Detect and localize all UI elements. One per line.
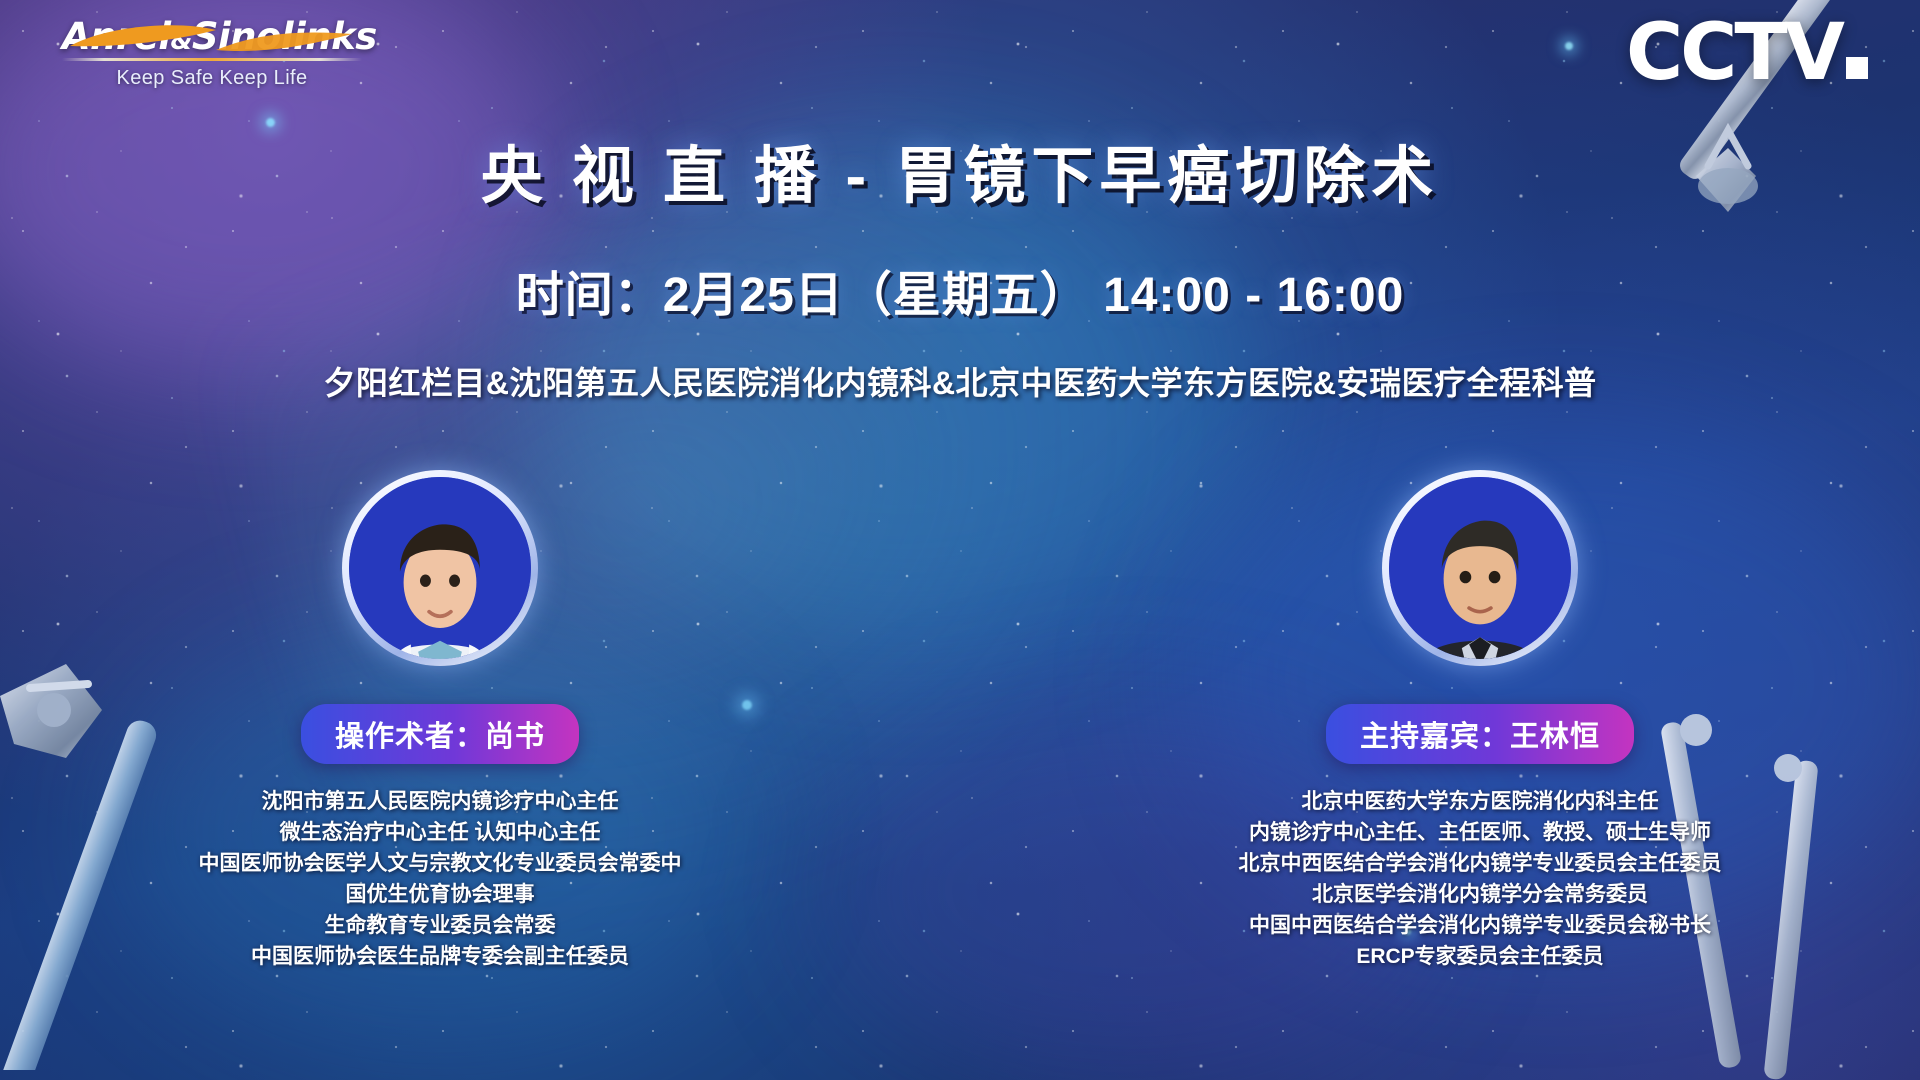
cctv-logo: CCTV [1626, 14, 1868, 92]
cctv-logo-dot [1846, 57, 1868, 79]
credential-line: 国优生优育协会理事 [180, 879, 700, 910]
credential-line: 北京中医药大学东方医院消化内科主任 [1220, 786, 1740, 817]
host-portrait-icon [1389, 477, 1571, 659]
credential-list: 沈阳市第五人民医院内镜诊疗中心主任 微生态治疗中心主任 认知中心主任 中国医师协… [180, 786, 700, 972]
partner-organizations: 夕阳红栏目&沈阳第五人民医院消化内镜科&北京中医药大学东方医院&安瑞医疗全程科普 [0, 358, 1920, 404]
host-name-badge: 主持嘉宾：王林恒 [1326, 704, 1634, 764]
cctv-logo-text: CCTV [1626, 8, 1842, 98]
event-time: 时间：2月25日（星期五） 14:00 - 16:00 [0, 255, 1920, 325]
brand-tagline: Keep Safe Keep Life [62, 67, 362, 90]
brand-logo: Anrei&Sinolinks Keep Safe Keep Life [62, 18, 362, 90]
avatar-ring [1382, 470, 1578, 666]
speaker-card-left: 操作术者：尚书 沈阳市第五人民医院内镜诊疗中心主任 微生态治疗中心主任 认知中心… [180, 470, 700, 972]
brand-wordmark: Anrei&Sinolinks [62, 18, 362, 55]
brand-divider-rule [62, 58, 362, 61]
poster-canvas: Anrei&Sinolinks Keep Safe Keep Life CCTV… [0, 0, 1920, 1080]
credential-line: 生命教育专业委员会常委 [180, 910, 700, 941]
avatar-ring [342, 470, 538, 666]
brand-ampersand: & [171, 26, 192, 55]
credential-line: 中国医师协会医生品牌专委会副主任委员 [180, 941, 700, 972]
avatar [1389, 477, 1571, 659]
speaker-card-right: 主持嘉宾：王林恒 北京中医药大学东方医院消化内科主任 内镜诊疗中心主任、主任医师… [1220, 470, 1740, 972]
credential-line: 中国医师协会医学人文与宗教文化专业委员会常委中 [180, 848, 700, 879]
credential-line: 中国中西医结合学会消化内镜学专业委员会秘书长 [1220, 910, 1740, 941]
star-glow-dot [742, 700, 752, 710]
avatar [349, 477, 531, 659]
brand-name-part1: Anrei [62, 15, 171, 58]
credential-line: 微生态治疗中心主任 认知中心主任 [180, 817, 700, 848]
credential-line: 内镜诊疗中心主任、主任医师、教授、硕士生导师 [1220, 817, 1740, 848]
brand-name-part2: Sinolinks [192, 15, 377, 58]
doctor-portrait-icon [349, 477, 531, 659]
credential-line: 北京中西医结合学会消化内镜学专业委员会主任委员 [1220, 848, 1740, 879]
page-title: 央 视 直 播 - 胃镜下早癌切除术 [0, 125, 1920, 215]
credential-line: 北京医学会消化内镜学分会常务委员 [1220, 879, 1740, 910]
star-glow-dot [1565, 42, 1573, 50]
credential-line: ERCP专家委员会主任委员 [1220, 941, 1740, 972]
speaker-name-badge: 操作术者：尚书 [301, 704, 579, 764]
credential-line: 沈阳市第五人民医院内镜诊疗中心主任 [180, 786, 700, 817]
credential-list: 北京中医药大学东方医院消化内科主任 内镜诊疗中心主任、主任医师、教授、硕士生导师… [1220, 786, 1740, 972]
